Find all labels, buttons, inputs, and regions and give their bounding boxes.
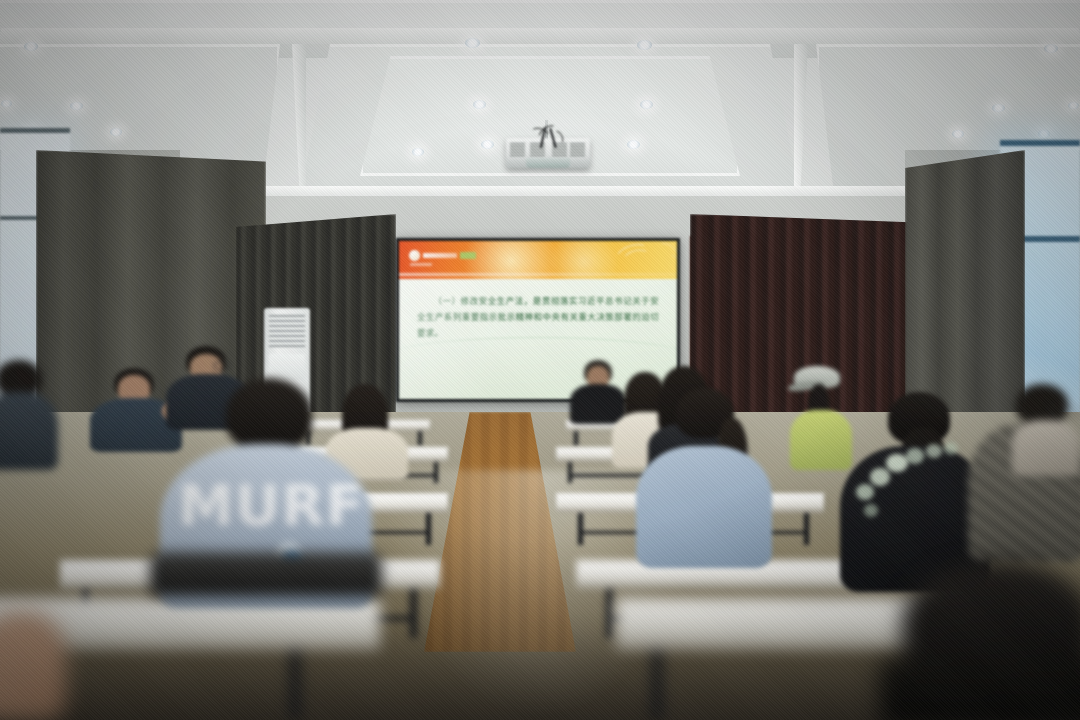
slide-header-banner xyxy=(399,241,677,279)
smurfs-shirt-text: MURF xyxy=(178,474,365,539)
chair-back-foreground xyxy=(150,552,382,596)
projector-cables xyxy=(524,126,570,150)
slide-body: （一）修改安全生产法，是贯彻落实习近平总书记关于安全生产系列重要指示批示精神和中… xyxy=(399,285,677,341)
attendee-right-foreground xyxy=(880,560,1080,720)
slide-logo-icon xyxy=(409,250,476,261)
projector-lens-icon xyxy=(526,158,570,168)
slide-paragraph: （一）修改安全生产法，是贯彻落实习近平总书记关于安全生产系列重要指示批示精神和中… xyxy=(417,293,659,341)
attendee-left-edge xyxy=(0,360,58,470)
foreground-arm-left xyxy=(0,612,66,720)
meeting-room-photo: （一）修改安全生产法，是贯彻落实习近平总书记关于安全生产系列重要指示批示精神和中… xyxy=(0,0,1080,720)
slide-logo-subtitle xyxy=(410,263,432,266)
attendee-right-edge-glasses xyxy=(1012,384,1080,476)
ac-panel xyxy=(269,354,305,380)
banner-underline xyxy=(399,273,677,276)
attendee-lightblue-ponytail xyxy=(636,388,772,568)
ac-grille-icon xyxy=(269,315,305,347)
